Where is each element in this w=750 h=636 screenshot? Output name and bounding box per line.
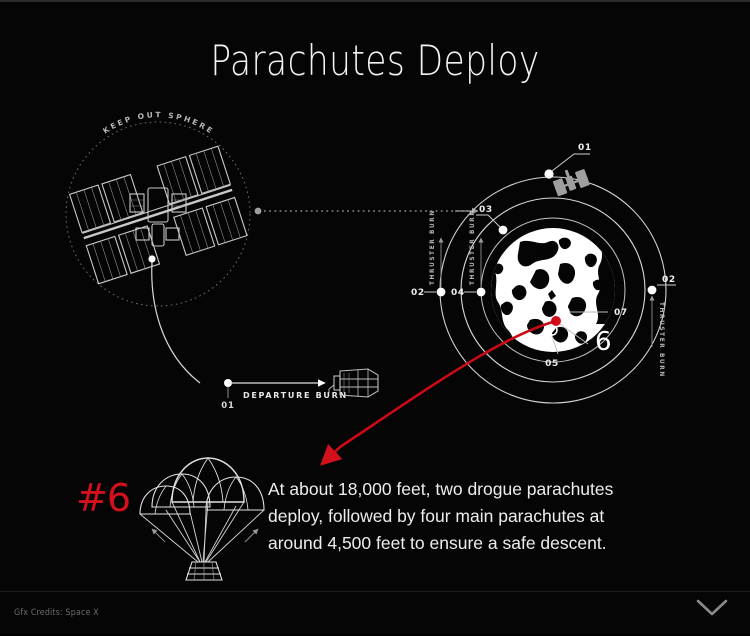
caption-line-3: around 4,500 feet to ensure a safe desce…	[268, 530, 698, 557]
credits-label: Gfx Credits: Space X	[14, 608, 99, 618]
footer-divider	[0, 591, 750, 592]
thruster-burn-label-left: THRUSTER BURN	[430, 209, 436, 285]
caption-line-2: deploy, followed by four main parachutes…	[268, 503, 698, 530]
space-station-mini-icon	[551, 164, 590, 196]
transfer-dotted-line	[255, 208, 478, 215]
caption-text: At about 18,000 feet, two drogue parachu…	[268, 476, 698, 557]
thruster-burn-label-mid: THRUSTER BURN	[470, 209, 476, 285]
departure-burn-group: 01 DEPARTURE BURN	[221, 369, 378, 411]
step-badge: 6	[595, 327, 612, 357]
iss-sphere-group: KEEP OUT SPHERE	[66, 110, 250, 306]
orbit-node-04	[477, 288, 486, 297]
orbit-node-02-right-label: 02	[662, 275, 676, 285]
space-station-icon	[70, 146, 247, 284]
earth-orbit-group: 01 03 02 THRUSTER BURN 04	[411, 143, 676, 403]
orbit-node-03-label: 03	[479, 205, 493, 215]
caption-line-1: At about 18,000 feet, two drogue parachu…	[268, 476, 698, 503]
keep-out-sphere-label: KEEP OUT SPHERE	[101, 110, 216, 136]
orbit-node-02-left-label: 02	[411, 288, 425, 298]
parachute-capsule-icon	[140, 458, 264, 580]
orbit-node-02-left	[437, 288, 446, 297]
step-number: #6	[76, 476, 130, 520]
orbit-node-02-right	[648, 286, 657, 295]
thruster-burn-label-right: THRUSTER BURN	[658, 302, 664, 378]
iss-to-departure-path	[152, 262, 200, 383]
slide-root: Parachutes Deploy KEEP OUT SPHERE	[0, 0, 750, 634]
chevron-down-icon[interactable]	[692, 595, 732, 626]
orbit-node-01-label: 01	[578, 143, 592, 153]
departure-burn-label: DEPARTURE BURN	[243, 391, 348, 400]
orbit-node-07-label: 07	[614, 308, 628, 318]
iss-departure-node	[148, 255, 155, 262]
orbit-node-04-label: 04	[451, 288, 465, 298]
orbit-node-05-label: 05	[545, 359, 559, 369]
departure-burn-node-label: 01	[221, 401, 234, 411]
